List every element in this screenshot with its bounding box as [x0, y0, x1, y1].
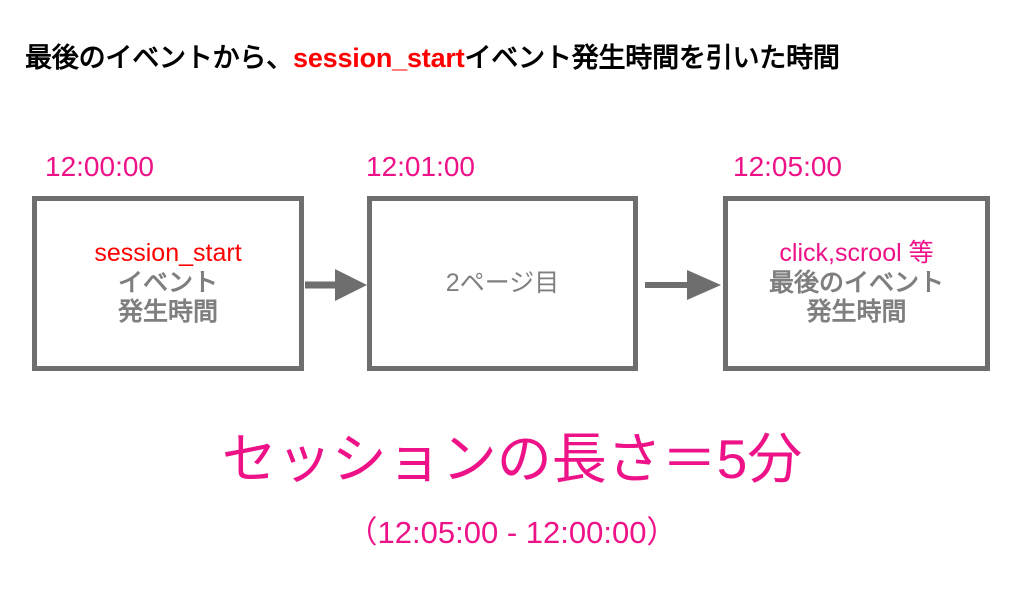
event-box-2-line-1: 2ページ目 — [446, 269, 559, 299]
timestamp-node-3: 12:05:00 — [733, 153, 842, 181]
summary-session-length: セッションの長さ＝5分 — [0, 432, 1024, 487]
event-box-3-line-1: click,scrool 等 — [779, 239, 933, 269]
arrow-right-icon-1 — [305, 265, 367, 305]
timestamp-node-1: 12:00:00 — [45, 153, 154, 181]
timestamp-node-2: 12:01:00 — [366, 153, 475, 181]
summary-calculation: （12:05:00 - 12:00:00） — [0, 517, 1024, 548]
arrow-right-icon-2 — [645, 265, 721, 305]
event-box-last-event: click,scrool 等 最後のイベント 発生時間 — [723, 196, 990, 371]
event-box-1-line-1: session_start — [94, 239, 241, 269]
event-box-3-line-3: 発生時間 — [806, 298, 906, 328]
event-box-3-line-2: 最後のイベント — [769, 269, 944, 299]
event-box-1-line-2: イベント — [118, 269, 218, 299]
event-box-page-two: 2ページ目 — [367, 196, 638, 371]
event-box-session-start: session_start イベント 発生時間 — [32, 196, 304, 371]
event-box-1-line-3: 発生時間 — [118, 298, 218, 328]
